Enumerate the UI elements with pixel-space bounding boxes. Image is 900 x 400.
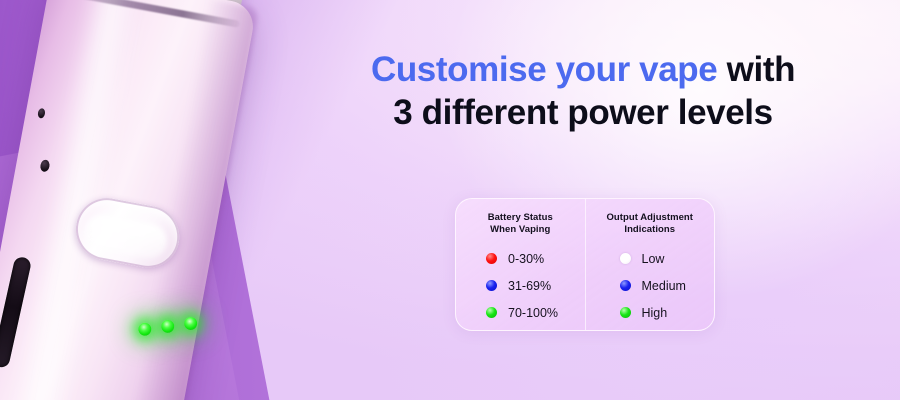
legend-dot-blue-icon (486, 280, 497, 291)
legend-dot-green-icon (620, 307, 631, 318)
legend-row: 0-30% (486, 245, 585, 272)
legend-items-output-adjustment: Low Medium High (586, 245, 715, 326)
legend-column-output-adjustment: Output Adjustment Indications Low Medium… (585, 199, 715, 330)
legend-label: 70-100% (508, 306, 558, 320)
legend-card: Battery Status When Vaping 0-30% 31-69% … (455, 198, 715, 331)
legend-row: Medium (620, 272, 715, 299)
legend-label: 0-30% (508, 252, 544, 266)
legend-row: 70-100% (486, 299, 585, 326)
headline: Customise your vape with 3 different pow… (300, 50, 866, 132)
legend-dot-white-icon (620, 253, 631, 264)
legend-label: 31-69% (508, 279, 551, 293)
legend-row: 31-69% (486, 272, 585, 299)
legend-items-battery-status: 0-30% 31-69% 70-100% (456, 245, 585, 326)
legend-label: Low (642, 252, 665, 266)
headline-accent-text: Customise your vape (371, 50, 717, 89)
legend-label: Medium (642, 279, 686, 293)
headline-with-text: with (717, 50, 795, 89)
legend-title-battery-status: Battery Status When Vaping (488, 212, 553, 236)
legend-title-output-adjustment: Output Adjustment Indications (606, 212, 693, 236)
banner-stage: Customise your vape with 3 different pow… (0, 0, 900, 400)
legend-dot-blue-icon (620, 280, 631, 291)
legend-row: High (620, 299, 715, 326)
legend-column-battery-status: Battery Status When Vaping 0-30% 31-69% … (456, 199, 585, 330)
legend-label: High (642, 306, 668, 320)
legend-row: Low (620, 245, 715, 272)
headline-line-1: Customise your vape with (300, 50, 866, 89)
legend-dot-red-icon (486, 253, 497, 264)
legend-dot-green-icon (486, 307, 497, 318)
headline-line-2: 3 different power levels (300, 93, 866, 132)
